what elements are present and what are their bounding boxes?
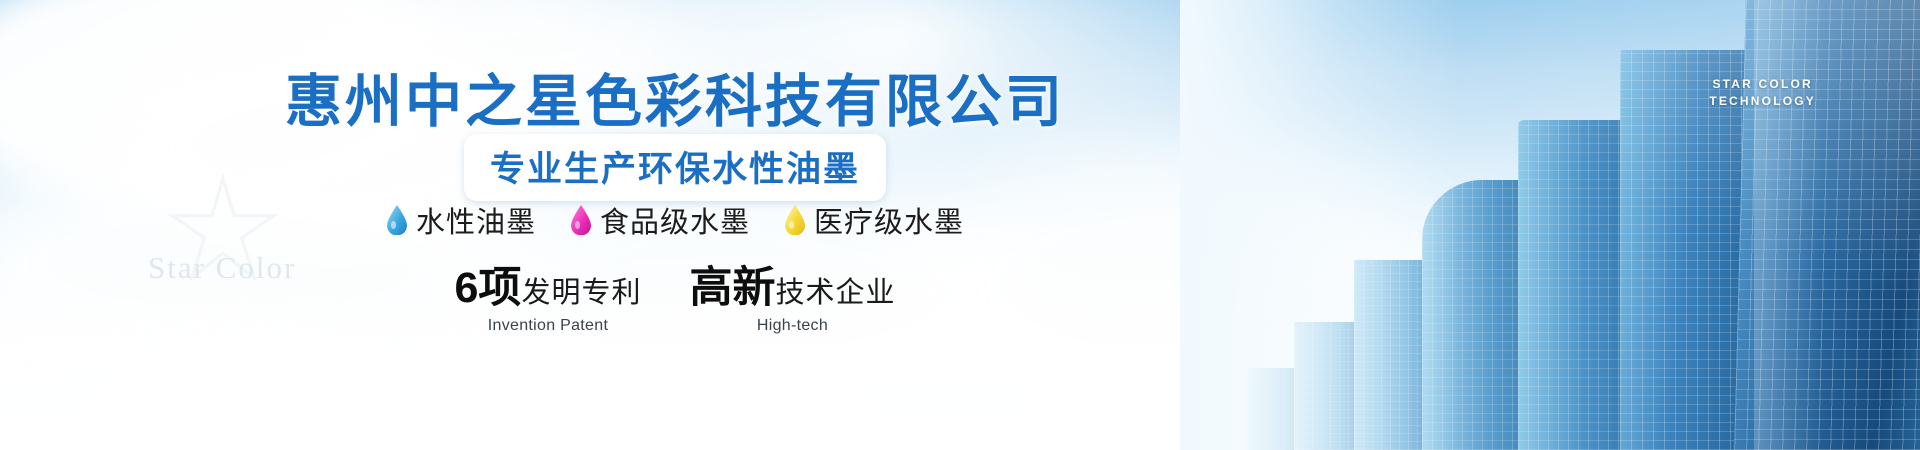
badge-list: 6项发明专利 Invention Patent 高新技术企业 High-tech: [0, 267, 1350, 335]
subtitle-pill: 专业生产环保水性油墨: [464, 134, 886, 201]
feature-label: 水性油墨: [416, 199, 536, 241]
company-title: 惠州中之星色彩科技有限公司: [0, 56, 1350, 138]
badge-english: Invention Patent: [455, 317, 642, 335]
feature-list: 水性油墨 食品级水墨: [0, 199, 1350, 241]
badge-big-text: 高新: [689, 264, 775, 312]
banner-content: 惠州中之星色彩科技有限公司 专业生产环保水性油墨 水性油墨: [0, 0, 1350, 450]
feature-item: 食品级水墨: [570, 199, 750, 241]
badge-item: 高新技术企业 High-tech: [689, 267, 895, 335]
water-drop-icon: [784, 205, 806, 235]
subtitle-pill-wrap: 专业生产环保水性油墨: [0, 134, 1350, 201]
badge-english: High-tech: [689, 317, 895, 335]
badge-small-text: 技术企业: [775, 277, 895, 309]
water-drop-icon: [386, 205, 408, 235]
water-drop-icon: [570, 205, 592, 235]
feature-item: 水性油墨: [386, 199, 536, 241]
corner-wordmark-line1: STAR COLOR: [1709, 76, 1816, 93]
feature-item: 医疗级水墨: [784, 199, 964, 241]
promo-banner: STAR COLOR TECHNOLOGY Star Color 惠州中之星色彩…: [0, 0, 1920, 450]
badge-item: 6项发明专利 Invention Patent: [455, 267, 642, 335]
badge-small-text: 发明专利: [521, 277, 641, 309]
badge-big-text: 6项: [455, 264, 522, 312]
badge-main: 高新技术企业: [689, 267, 895, 310]
corner-wordmark: STAR COLOR TECHNOLOGY: [1709, 76, 1816, 110]
badge-main: 6项发明专利: [455, 267, 642, 310]
feature-label: 医疗级水墨: [814, 199, 964, 241]
feature-label: 食品级水墨: [600, 199, 750, 241]
corner-wordmark-line2: TECHNOLOGY: [1709, 93, 1816, 110]
